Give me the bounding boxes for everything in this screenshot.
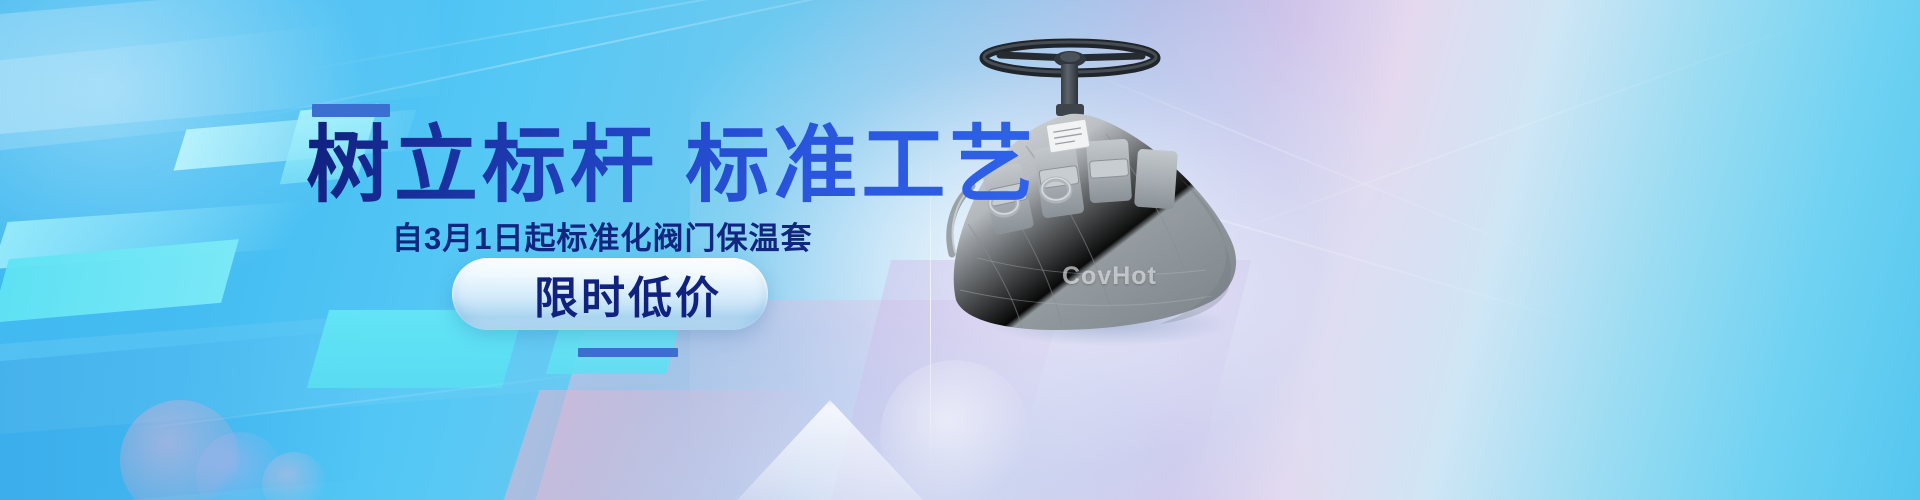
accent-underline-icon <box>578 348 678 357</box>
limited-time-price-button[interactable]: 限时低价 <box>452 258 768 330</box>
promo-banner: CovHot 树立标杆 标准工艺 自3月1日起标准化阀门保温套 限时低价 <box>0 0 1920 500</box>
banner-subtitle: 自3月1日起标准化阀门保温套 <box>392 213 812 258</box>
banner-headline: 树立标杆 标准工艺 <box>306 120 1037 211</box>
limited-time-price-label: 限时低价 <box>452 258 768 330</box>
accent-dash-icon <box>312 104 390 117</box>
banner-content: 树立标杆 标准工艺 自3月1日起标准化阀门保温套 限时低价 <box>0 0 1920 500</box>
